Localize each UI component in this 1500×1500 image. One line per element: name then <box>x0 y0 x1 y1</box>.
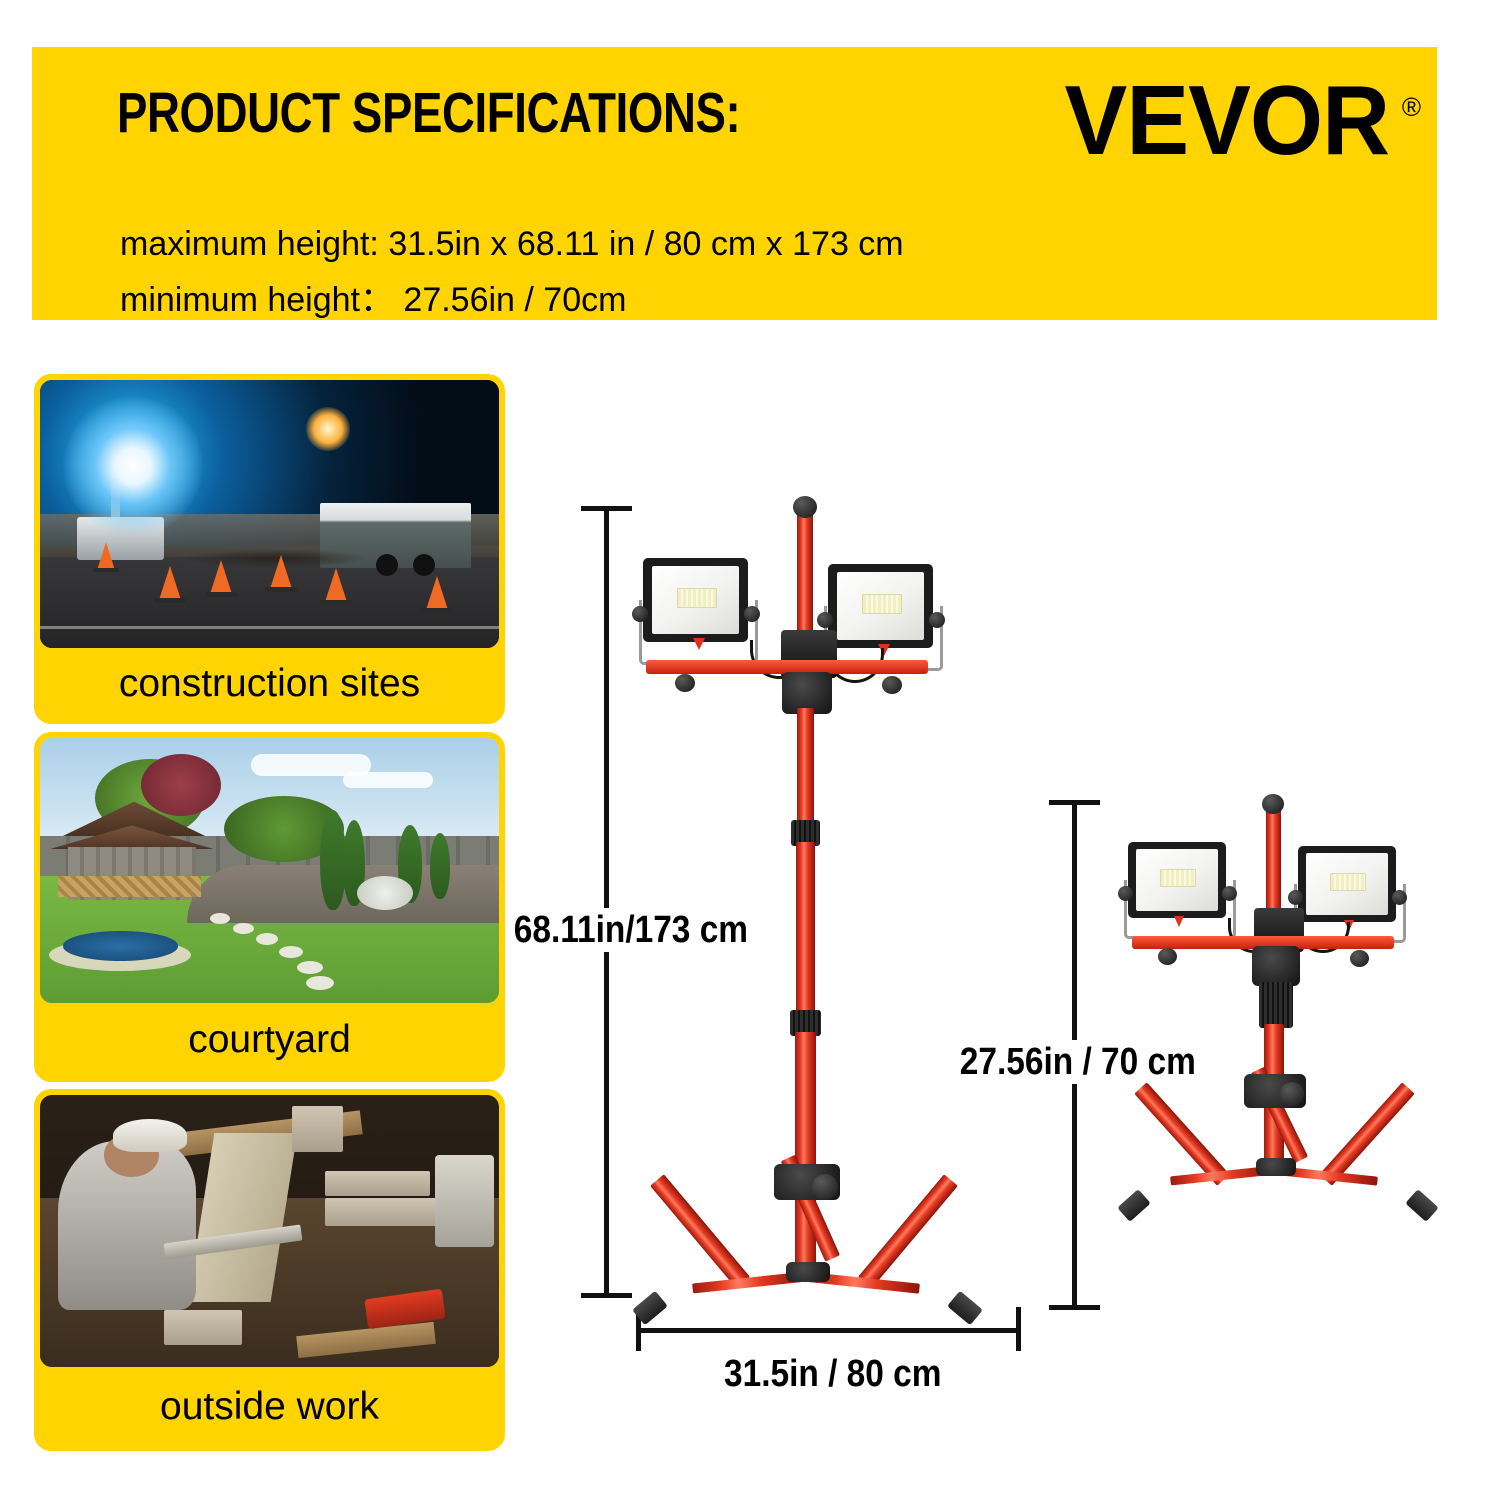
crossbar-knob-left <box>675 674 695 692</box>
lamp-tilt-knob-right-outer <box>929 612 945 628</box>
base-width-dimension-label: 31.5in / 80 cm <box>724 1355 941 1393</box>
crossbar-knob-right <box>882 676 902 694</box>
short-crossbar-knob-right <box>1350 950 1369 967</box>
short-lamp-knob-left-outer <box>1118 886 1133 901</box>
vevor-logo: VEVOR <box>1064 71 1389 169</box>
short-tripod-leg-right <box>1319 1082 1415 1186</box>
short-tripod-foot-left <box>1117 1189 1151 1222</box>
short-mast-top-knob-icon <box>1262 794 1284 814</box>
tall-height-dimension-top-cap <box>581 506 632 511</box>
courtyard-photo <box>40 738 499 1003</box>
short-lamp-indicator-left <box>1174 916 1184 927</box>
short-height-dimension-top-cap <box>1049 800 1100 805</box>
base-width-dimension-line <box>638 1328 1020 1333</box>
spec-minimum-height: minimum height： 27.56in / 70cm <box>120 272 626 321</box>
tripod-leg-left <box>650 1174 750 1288</box>
lamp-tilt-knob-left-inner <box>744 606 760 622</box>
card-label: outside work <box>35 1387 504 1426</box>
work-light-collapsed-stand <box>1118 790 1448 1320</box>
work-light-extended-stand <box>630 490 990 1320</box>
outside-work-photo <box>40 1095 499 1367</box>
lamp-yoke-left <box>639 600 758 665</box>
short-tripod-leg-left <box>1134 1082 1230 1186</box>
use-case-card-construction-sites: construction sites <box>35 375 504 723</box>
short-height-dimension-bottom-cap <box>1049 1305 1100 1310</box>
short-lamp-knob-right-outer <box>1392 890 1407 905</box>
lamp-indicator-left <box>693 638 705 650</box>
card-label: courtyard <box>35 1020 504 1059</box>
telescoping-pole-upper <box>797 708 814 826</box>
lamp-tilt-knob-right-inner <box>817 612 833 628</box>
short-tripod-foot-right <box>1405 1189 1439 1222</box>
tripod-lock-knob <box>812 1174 838 1200</box>
header-banner: PRODUCT SPECIFICATIONS: VEVOR ® maximum … <box>32 47 1437 320</box>
short-lamp-yoke-left <box>1124 880 1236 939</box>
card-label: construction sites <box>35 664 504 703</box>
tripod-brace-hub <box>786 1262 830 1282</box>
telescoping-pole-lower <box>795 1032 816 1272</box>
use-case-card-courtyard: courtyard <box>35 733 504 1081</box>
tall-height-dimension-bottom-cap <box>581 1293 632 1298</box>
spec-maximum-height: maximum height: 31.5in x 68.11 in / 80 c… <box>120 225 904 264</box>
short-crossbar-center-clamp <box>1252 946 1300 986</box>
construction-site-photo <box>40 380 499 648</box>
base-width-dimension-right-cap <box>1016 1307 1021 1351</box>
short-tripod-brace-hub <box>1256 1158 1296 1176</box>
registered-trademark-icon: ® <box>1402 94 1421 120</box>
tall-height-dimension-line <box>604 508 609 1298</box>
tripod-leg-right <box>858 1174 958 1288</box>
short-lamp-knob-right-inner <box>1288 890 1303 905</box>
short-tripod-lock-knob <box>1280 1082 1304 1106</box>
lamp-tilt-knob-left-outer <box>632 606 648 622</box>
page-title: PRODUCT SPECIFICATIONS: <box>117 80 740 146</box>
mast-top-knob-icon <box>793 496 817 518</box>
use-case-card-outside-work: outside work <box>35 1090 504 1450</box>
short-lamp-knob-left-inner <box>1222 886 1237 901</box>
short-pole-collar <box>1259 982 1293 1028</box>
telescoping-pole-mid <box>796 842 815 1016</box>
short-crossbar-knob-left <box>1158 948 1177 965</box>
tripod-foot-right <box>947 1291 983 1326</box>
